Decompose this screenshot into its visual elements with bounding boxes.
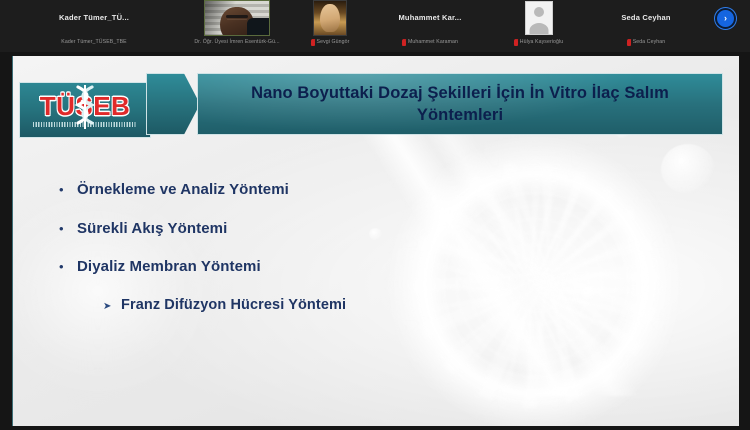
slide-title-banner: Nano Boyuttaki Dozaj Şekilleri İçin İn V… [197, 73, 723, 135]
window-chrome-bottom [0, 426, 750, 430]
chevron-right-glyph: › [724, 14, 727, 23]
mic-muted-icon [311, 39, 315, 46]
participant-video-area[interactable]: Seda Ceyhan [591, 0, 701, 36]
arrow-bullet-marker-icon: ➤ [103, 302, 121, 312]
participant-strip-name: Muhammet Karaman [408, 40, 458, 45]
filmstrip-next-button[interactable]: › [701, 0, 750, 52]
bullet-label: Örnekleme ve Analiz Yöntemi [77, 182, 289, 199]
bullet-marker-icon: • [59, 183, 77, 196]
bubble-watermark-icon [581, 286, 597, 301]
filmstrip-next-area[interactable]: › [701, 0, 750, 36]
bullet-marker-icon: • [59, 260, 77, 273]
tuseb-wordmark: TÜSEB [40, 93, 131, 119]
participant-display-name: Seda Ceyhan [621, 14, 670, 22]
participant-tile[interactable]: Muhammet Kar... Muhammet Karaman [374, 0, 486, 52]
chevron-right-icon[interactable]: › [715, 8, 736, 29]
list-item: • Örnekleme ve Analiz Yöntemi [59, 182, 489, 199]
participant-tile[interactable]: Sevgi Güngör [286, 0, 374, 52]
participant-strip-name: Dr. Öğr. Üyesi İmren Esentürk-Gü... [194, 40, 279, 45]
list-item: • Sürekli Akış Yöntemi [59, 221, 489, 238]
tuseb-logo: TÜSEB TÜRKİYE SAĞLIK ENSTİTÜLERİ BAŞKANL… [19, 82, 151, 138]
participant-video-area[interactable] [286, 0, 374, 36]
bullet-label: Franz Difüzyon Hücresi Yöntemi [121, 298, 346, 314]
list-item-sub: ➤ Franz Difüzyon Hücresi Yöntemi [103, 298, 489, 314]
participant-video-area[interactable] [188, 0, 286, 36]
window-chrome-right [739, 52, 750, 430]
title-banner-wedge [146, 73, 200, 135]
mic-muted-icon [627, 39, 631, 46]
participant-name-row: Muhammet Karaman [374, 36, 486, 49]
participant-display-name: Kader Tümer_TÜ... [59, 14, 129, 22]
list-item: • Diyaliz Membran Yöntemi [59, 259, 489, 276]
bullet-label: Diyaliz Membran Yöntemi [77, 259, 261, 276]
shared-screen-region[interactable]: TÜSEB TÜRKİYE SAĞLIK ENSTİTÜLERİ BAŞKANL… [12, 56, 740, 426]
participant-name-row: Dr. Öğr. Üyesi İmren Esentürk-Gü... [188, 36, 286, 49]
participant-strip-name: Hülya Kayserioğlu [520, 40, 564, 45]
participant-video-area[interactable]: Kader Tümer_TÜ... [0, 0, 188, 36]
bubble-watermark-icon [661, 144, 715, 194]
participant-tile[interactable]: Kader Tümer_TÜ... Kader Tümer_TÜSEB_TBE [0, 0, 188, 52]
webcam-chair-shape [247, 18, 270, 36]
tuseb-tagline: TÜRKİYE SAĞLIK ENSTİTÜLERİ BAŞKANLIĞI [33, 122, 137, 127]
meeting-screen-share-view: Kader Tümer_TÜ... Kader Tümer_TÜSEB_TBE … [0, 0, 750, 430]
participant-display-name: Muhammet Kar... [398, 14, 461, 22]
avatar [525, 1, 553, 35]
participant-name-row: Sevgi Güngör [286, 36, 374, 49]
participant-webcam-feed[interactable] [313, 0, 347, 36]
participant-name-row: Hülya Kayserioğlu [486, 36, 591, 49]
participant-name-row: Seda Ceyhan [591, 36, 701, 49]
presentation-slide: TÜSEB TÜRKİYE SAĞLIK ENSTİTÜLERİ BAŞKANL… [13, 56, 739, 426]
participant-webcam-feed[interactable] [204, 0, 270, 36]
participant-tile[interactable]: Seda Ceyhan Seda Ceyhan [591, 0, 701, 52]
participant-name-row [701, 36, 750, 49]
participant-strip-name: Sevgi Güngör [317, 40, 350, 45]
bullet-marker-icon: • [59, 222, 77, 235]
participant-tile[interactable]: Dr. Öğr. Üyesi İmren Esentürk-Gü... [188, 0, 286, 52]
participant-video-area[interactable] [486, 0, 591, 36]
slide-bullet-list: • Örnekleme ve Analiz Yöntemi • Sürekli … [59, 182, 489, 335]
participant-video-area[interactable]: Muhammet Kar... [374, 0, 486, 36]
slide-title: Nano Boyuttaki Dozaj Şekilleri İçin İn V… [198, 82, 722, 127]
window-chrome-left [0, 52, 12, 430]
mic-muted-icon [402, 39, 406, 46]
participant-tile[interactable]: Hülya Kayserioğlu [486, 0, 591, 52]
participant-filmstrip: Kader Tümer_TÜ... Kader Tümer_TÜSEB_TBE … [0, 0, 750, 52]
participant-strip-name: Kader Tümer_TÜSEB_TBE [61, 40, 126, 45]
participant-name-row: Kader Tümer_TÜSEB_TBE [0, 36, 188, 49]
participant-strip-name: Seda Ceyhan [633, 40, 666, 45]
bullet-label: Sürekli Akış Yöntemi [77, 221, 227, 238]
mic-muted-icon [514, 39, 518, 46]
